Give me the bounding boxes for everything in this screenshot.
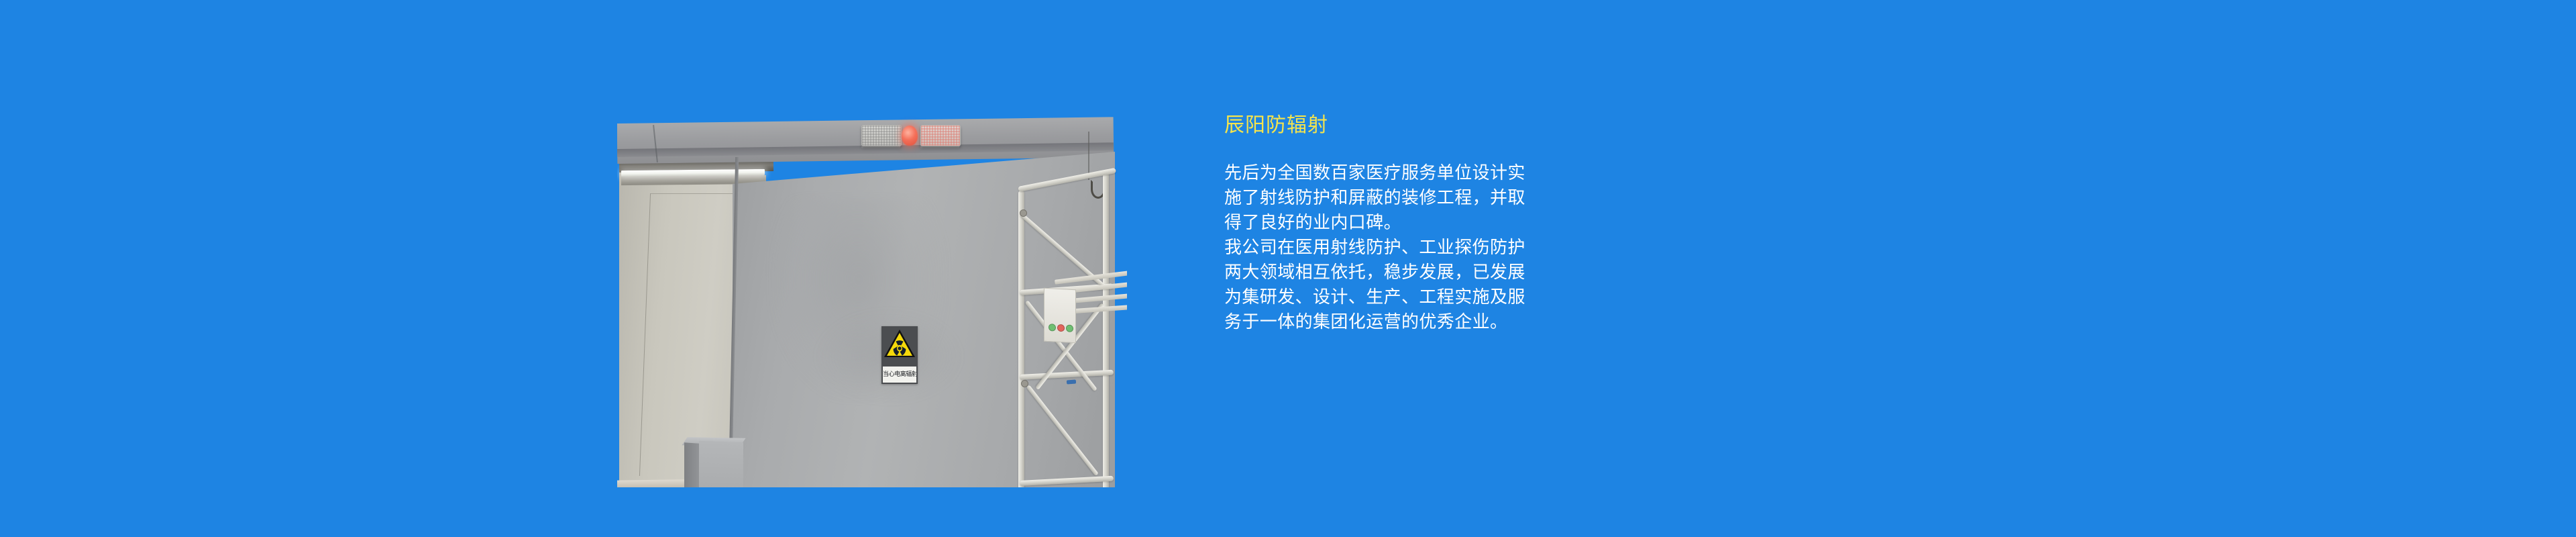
scaffold-clamp-1	[1020, 209, 1027, 217]
promo-text-block: 辰阳防辐射 先后为全国数百家医疗服务单位设计实 施了射线防护和屏蔽的装修工程，并…	[1224, 114, 1828, 334]
brand-title: 辰阳防辐射	[1224, 114, 1828, 136]
description-line: 我公司在医用射线防护、工业探伤防护	[1224, 235, 1828, 260]
blue-tape-marker	[1067, 380, 1076, 385]
description-line: 为集研发、设计、生产、工程实施及服	[1224, 285, 1828, 309]
door-control-box[interactable]	[1044, 288, 1076, 344]
scaffolding-structure	[1017, 170, 1127, 487]
scaffold-brace-lower	[1026, 385, 1099, 476]
scaffold-clamp-2	[1021, 380, 1028, 387]
description-line: 两大领域相互依托，稳步发展，已发展	[1224, 260, 1828, 285]
led-panel-left	[861, 125, 902, 146]
radiation-shielding-door-photo: 当心电离辐射	[617, 111, 1127, 487]
company-description: 先后为全国数百家医疗服务单位设计实 施了射线防护和屏蔽的装修工程，并取 得了良好…	[1224, 160, 1828, 334]
promo-banner: 当心电离辐射	[0, 0, 2576, 537]
description-line: 先后为全国数百家医疗服务单位设计实	[1224, 160, 1828, 185]
green-button-1[interactable]	[1049, 324, 1056, 332]
scaffold-post-left	[1018, 191, 1024, 487]
description-line: 务于一体的集团化运营的优秀企业。	[1224, 309, 1828, 334]
scaffold-post-right	[1103, 172, 1109, 487]
warning-triangle-wrap	[883, 328, 916, 367]
description-line: 得了良好的业内口碑。	[1224, 210, 1828, 235]
handle-box-side	[684, 442, 700, 487]
green-button-2[interactable]	[1066, 324, 1073, 332]
photo-stage: 当心电离辐射	[617, 111, 1127, 487]
scaffold-rail-mid-lower	[1020, 370, 1114, 380]
scaffold-rail-bottom	[1020, 476, 1114, 486]
led-panel-right	[920, 125, 961, 146]
radiation-trefoil-icon	[883, 329, 916, 358]
warning-sign-label: 当心电离辐射	[883, 367, 916, 383]
handle-box-face	[699, 441, 743, 487]
radiation-warning-sign: 当心电离辐射	[881, 326, 918, 384]
warning-lamp-icon	[902, 126, 918, 146]
red-button[interactable]	[1057, 324, 1065, 332]
description-line: 施了射线防护和屏蔽的装修工程，并取	[1224, 185, 1828, 210]
